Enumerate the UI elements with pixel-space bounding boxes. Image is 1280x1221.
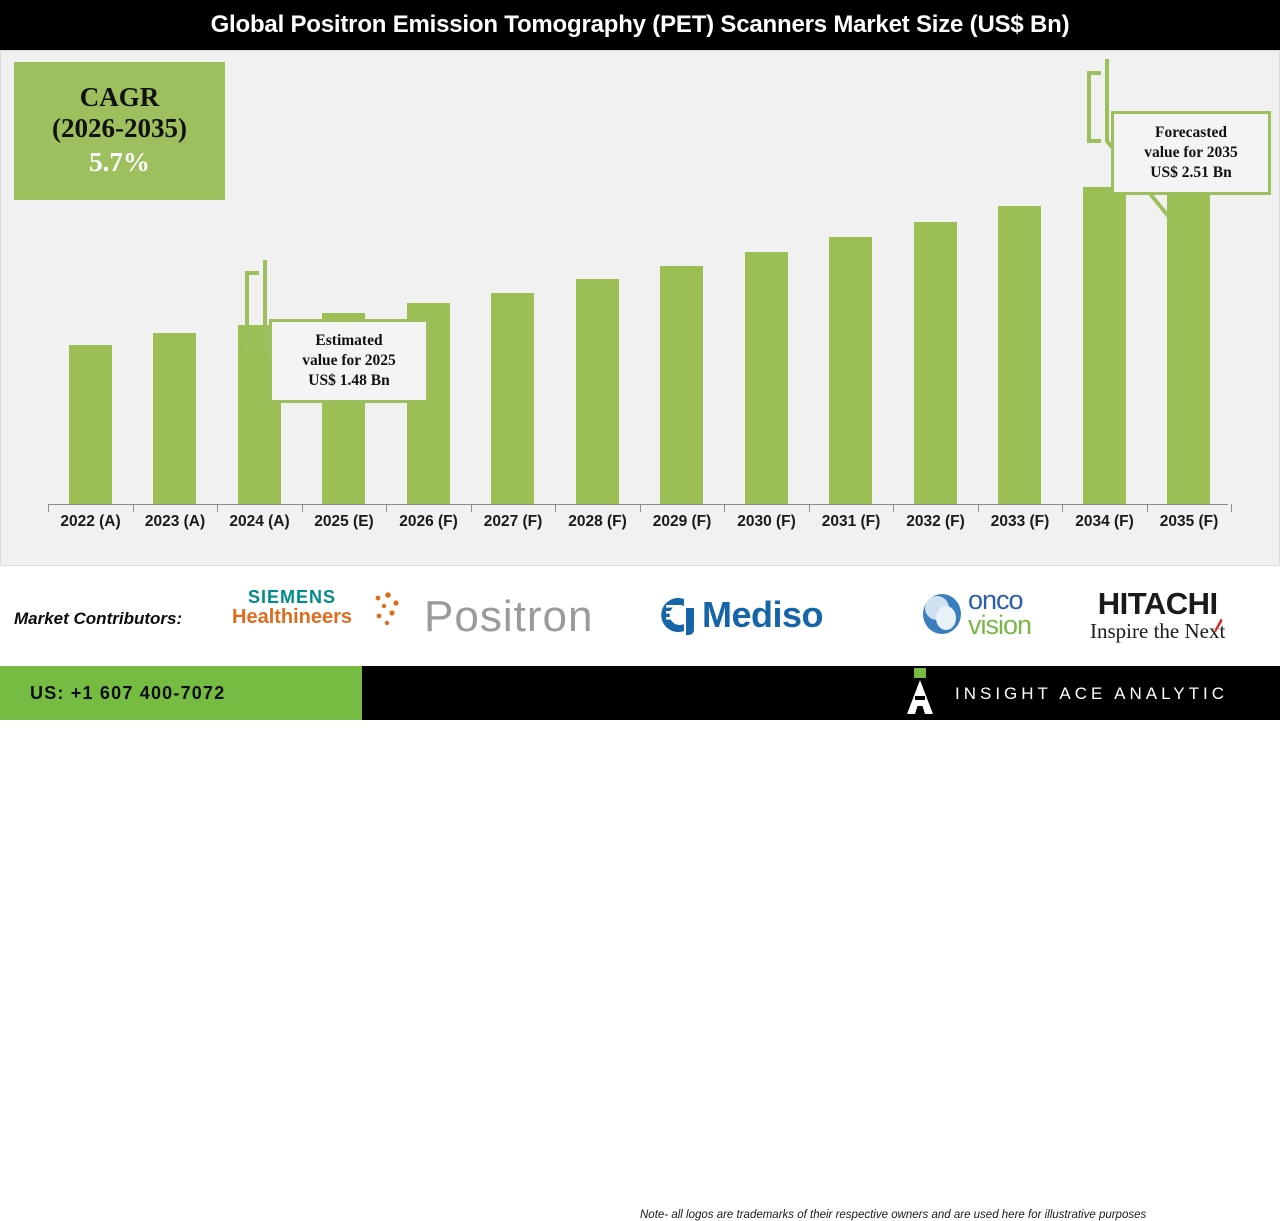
callout-forecasted-line1: Forecasted: [1155, 123, 1227, 143]
x-axis-tick: [217, 504, 218, 512]
bar-2023A: [153, 333, 196, 504]
hitachi-wordmark: HITACHI: [1090, 588, 1225, 619]
x-axis-label: 2032 (F): [893, 513, 978, 531]
x-axis-label: 2023 (A): [133, 513, 218, 531]
x-axis-label: 2028 (F): [555, 513, 640, 531]
x-axis-tick: [386, 504, 387, 512]
mediso-wordmark: Mediso: [702, 594, 823, 636]
x-axis-tick: [809, 504, 810, 512]
footer-bar: US: +1 607 400-7072 INSIGHT ACE ANALYTIC: [0, 666, 1280, 720]
bar-2032F: [914, 222, 957, 504]
mediso-mark-icon: [658, 595, 696, 635]
bar-2034F: [1083, 187, 1126, 504]
x-axis-tick: [893, 504, 894, 512]
logo-trademark-note: Note- all logos are trademarks of their …: [640, 1209, 1280, 1221]
insightace-a-logo-icon: [900, 668, 940, 714]
siemens-wordmark: SIEMENS: [232, 588, 352, 607]
bar-2029F: [660, 266, 703, 504]
hitachi-accent-icon: [1213, 618, 1223, 632]
callout-estimated-line2: value for 2025: [302, 351, 396, 371]
oncovision-logo: onco vision: [920, 588, 1031, 638]
x-axis-tick: [1062, 504, 1063, 512]
vision-wordmark: vision: [968, 613, 1031, 638]
market-contributors-label: Market Contributors:: [14, 609, 182, 629]
bar-2027F: [491, 293, 534, 504]
footer-brand-name: INSIGHT ACE ANALYTIC: [955, 684, 1228, 704]
siemens-healthineers-logo: SIEMENS Healthineers: [232, 588, 352, 628]
x-axis-tick: [1231, 504, 1232, 512]
oncovision-sphere-icon: [920, 590, 964, 636]
footer-phone-number[interactable]: US: +1 607 400-7072: [30, 683, 225, 704]
x-axis-label: 2031 (F): [809, 513, 894, 531]
positron-logo: Positron: [424, 592, 593, 642]
chart-panel: CAGR (2026-2035) 5.7% 2022 (A)2023 (A)20…: [0, 50, 1280, 566]
callout-forecasted-line3: US$ 2.51 Bn: [1150, 163, 1231, 183]
x-axis-tick: [471, 504, 472, 512]
x-axis-label: 2030 (F): [724, 513, 809, 531]
x-axis-label: 2029 (F): [640, 513, 725, 531]
callout-estimated-line3: US$ 1.48 Bn: [308, 371, 389, 391]
x-axis-tick: [48, 504, 49, 512]
x-axis-tick: [555, 504, 556, 512]
healthineers-wordmark: Healthineers: [232, 607, 352, 628]
x-axis-label: 2035 (F): [1147, 513, 1232, 531]
callout-estimated-2025: Estimated value for 2025 US$ 1.48 Bn: [269, 319, 429, 403]
bar-2033F: [998, 206, 1041, 504]
x-axis-label: 2034 (F): [1062, 513, 1147, 531]
x-axis-tick: [724, 504, 725, 512]
contributors-strip: Market Contributors: SIEMENS Healthineer…: [0, 566, 1280, 666]
x-axis-tick: [1147, 504, 1148, 512]
x-axis-line: [48, 504, 1228, 505]
bar-2031F: [829, 237, 872, 504]
x-axis-tick: [640, 504, 641, 512]
x-axis-label: 2033 (F): [978, 513, 1063, 531]
bar-chart-plot: 2022 (A)2023 (A)2024 (A)2025 (E)2026 (F)…: [1, 51, 1280, 567]
mediso-logo: Mediso: [658, 594, 823, 636]
title-bar: Global Positron Emission Tomography (PET…: [0, 0, 1280, 50]
x-axis-tick: [133, 504, 134, 512]
x-axis-label: 2025 (E): [302, 513, 387, 531]
x-axis-tick: [302, 504, 303, 512]
bar-2030F: [745, 252, 788, 504]
callout-estimated-line1: Estimated: [315, 331, 382, 351]
x-axis-tick: [978, 504, 979, 512]
hitachi-tagline: Inspire the Next: [1090, 619, 1225, 643]
page-title: Global Positron Emission Tomography (PET…: [211, 11, 1070, 39]
bar-2035F: [1167, 164, 1210, 504]
x-axis-label: 2022 (A): [48, 513, 133, 531]
bar-2022A: [69, 345, 112, 504]
siemens-dots-icon: [370, 592, 404, 628]
bar-2028F: [576, 279, 619, 504]
hitachi-logo: HITACHI Inspire the Next: [1090, 588, 1225, 643]
x-axis-label: 2026 (F): [386, 513, 471, 531]
x-axis-label: 2024 (A): [217, 513, 302, 531]
callout-forecasted-2035: Forecasted value for 2035 US$ 2.51 Bn: [1111, 111, 1271, 195]
x-axis-label: 2027 (F): [471, 513, 556, 531]
callout-forecasted-line2: value for 2035: [1144, 143, 1238, 163]
